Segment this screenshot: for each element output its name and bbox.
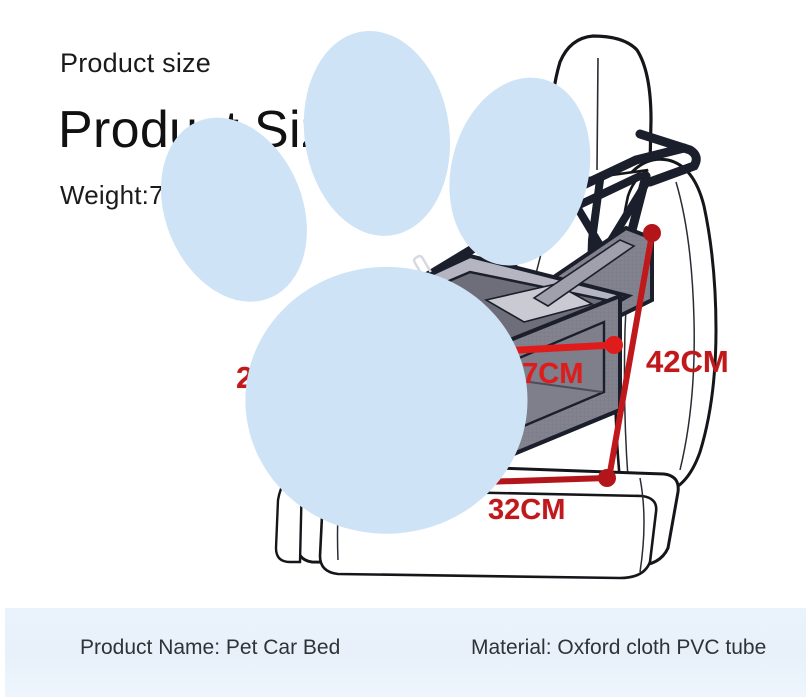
bed-zipper-pull: [370, 338, 376, 358]
dimension-dot-32cm-right: [598, 469, 616, 487]
dimension-dot-37cm-right: [605, 336, 623, 354]
dimension-label-32cm: 32CM: [488, 494, 565, 527]
dimension-dot-22cm-top: [326, 296, 344, 314]
headrest-seam: [597, 58, 598, 170]
dimension-dot-corner-bottom: [443, 474, 461, 492]
dimension-line-22cm: [332, 307, 335, 437]
dimension-label-37cm: 37CM: [506, 358, 583, 391]
dimension-label-42cm: 42CM: [646, 344, 729, 380]
diagram-svg: [0, 0, 811, 610]
footer-product-name: Product Name: Pet Car Bed: [80, 636, 340, 660]
dimension-dot-42cm-top: [643, 224, 661, 242]
product-size-diagram: 22CM 37CM 42CM 40CM 32CM: [0, 0, 811, 610]
product-info-footer: Product Name: Pet Car Bed Material: Oxfo…: [5, 608, 806, 697]
dimension-label-22cm: 22CM: [236, 360, 319, 396]
seat-base-left-bolster: [276, 470, 302, 562]
footer-material: Material: Oxford cloth PVC tube: [471, 636, 766, 660]
dimension-dot-37cm-left: [456, 344, 474, 362]
